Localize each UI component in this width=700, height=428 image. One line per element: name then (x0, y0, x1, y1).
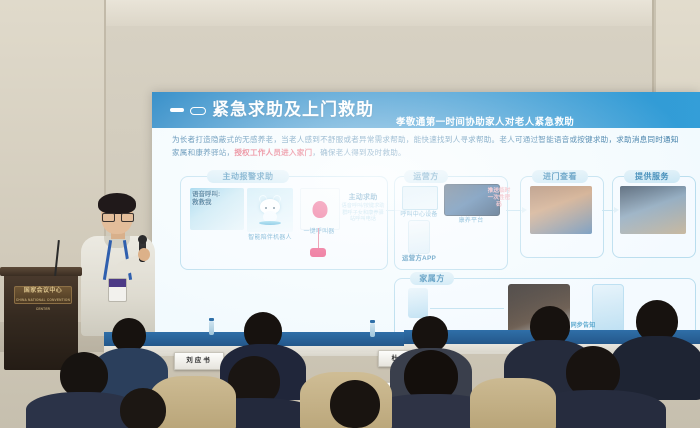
caption-family-notice: 同步告知 (566, 320, 600, 329)
pill-family: 家属方 (410, 272, 454, 285)
glasses-left-lens-icon (102, 213, 115, 222)
namecard: 刘应书 (174, 352, 224, 370)
thumb-home-service (620, 186, 686, 234)
robot-base (259, 221, 281, 225)
conference-photo: 紧急求助及上门救助 孝敬通第一时间协助家人对老人紧急救助 为长者打造隐蔽式的无感… (0, 0, 700, 428)
badge-header-band (109, 279, 126, 287)
robot-figure (257, 196, 283, 226)
chair-back (470, 378, 556, 428)
speaker-presenter (76, 196, 162, 336)
thumb-voice-call: 语音呼叫:救救我 (190, 188, 244, 230)
text-push-password: 推送临时 一次性密 码 (484, 188, 514, 209)
thumb-family-phone-left (408, 288, 428, 318)
voice-call-overlay-text: 语音呼叫:救救我 (192, 191, 220, 207)
one-key-caller-button (313, 201, 328, 218)
body-text-part2: ，确保老人得到及时救助。 (312, 148, 406, 157)
dash-icon (170, 108, 184, 112)
label-active-help-title: 主动求助 (342, 192, 384, 202)
audience-head (120, 388, 166, 428)
podium-nameplate: 国家会议中心 CHINA NATIONAL CONVENTION CENTER (14, 286, 72, 304)
text-active-help-desc: 语音呼叫/按键求助 群呼子女和康养驿 站呼叫电话 (340, 203, 386, 223)
audience-head (412, 316, 448, 352)
body-text-highlight: 授权工作人员进入家门 (234, 148, 312, 157)
speaker-hair (98, 193, 136, 214)
audience-head (112, 318, 146, 352)
thumb-call-center-device (402, 186, 438, 210)
microphone-head (138, 235, 147, 244)
podium: 国家会议中心 CHINA NATIONAL CONVENTION CENTER (4, 274, 78, 370)
podium-plate-en: CHINA NATIONAL CONVENTION CENTER (16, 298, 70, 311)
speaker-hand (138, 248, 150, 261)
oval-icon (190, 107, 206, 115)
pill-active-alarm: 主动报警求助 (207, 170, 289, 183)
water-bottle (209, 321, 214, 335)
caption-call-center: 呼叫中心设备 (396, 209, 442, 218)
thumb-door-access (530, 186, 592, 234)
podium-plate-cn: 国家会议中心 (24, 288, 62, 294)
thumb-operator-app-phone (408, 220, 430, 254)
caption-operator-app: 运营方APP (396, 252, 442, 262)
connector-family (430, 308, 504, 309)
pill-provide-service: 提供服务 (624, 170, 680, 183)
thumb-companion-robot (247, 188, 293, 232)
projection-screen: 紧急求助及上门救助 孝敬通第一时间协助家人对老人紧急救助 为长者打造隐蔽式的无感… (152, 92, 700, 342)
podium-top-surface (0, 267, 82, 276)
caption-robot-device: 智能陪伴机器人 (247, 232, 293, 241)
caption-health-platform: 康养平台 (444, 215, 498, 224)
caller-cord (318, 228, 319, 250)
glasses-right-lens-icon (121, 213, 134, 222)
speaker-badge (108, 278, 127, 302)
caller-pendant (310, 248, 326, 257)
slide-header-bar: 紧急求助及上门救助 孝敬通第一时间协助家人对老人紧急救助 (152, 92, 700, 128)
pill-enter-check: 进门查看 (532, 170, 588, 183)
slide-subtitle: 孝敬通第一时间协助家人对老人紧急救助 (396, 114, 574, 128)
slide-body-text: 为长者打造隐蔽式的无感养老，当老人感到不舒服或者异常需求帮助，能快速找到人寻求帮… (172, 134, 682, 159)
water-bottle (370, 323, 375, 337)
robot-eye-right (273, 207, 275, 209)
pill-operator: 运营方 (404, 170, 448, 183)
slide-diagram: 主动报警求助 语音呼叫:救救我 智能陪伴机器人 (152, 162, 700, 342)
slide-title: 紧急求助及上门救助 (212, 98, 374, 122)
thumb-one-key-caller (300, 188, 340, 230)
robot-eye-left (265, 207, 267, 209)
audience-head (330, 380, 380, 428)
